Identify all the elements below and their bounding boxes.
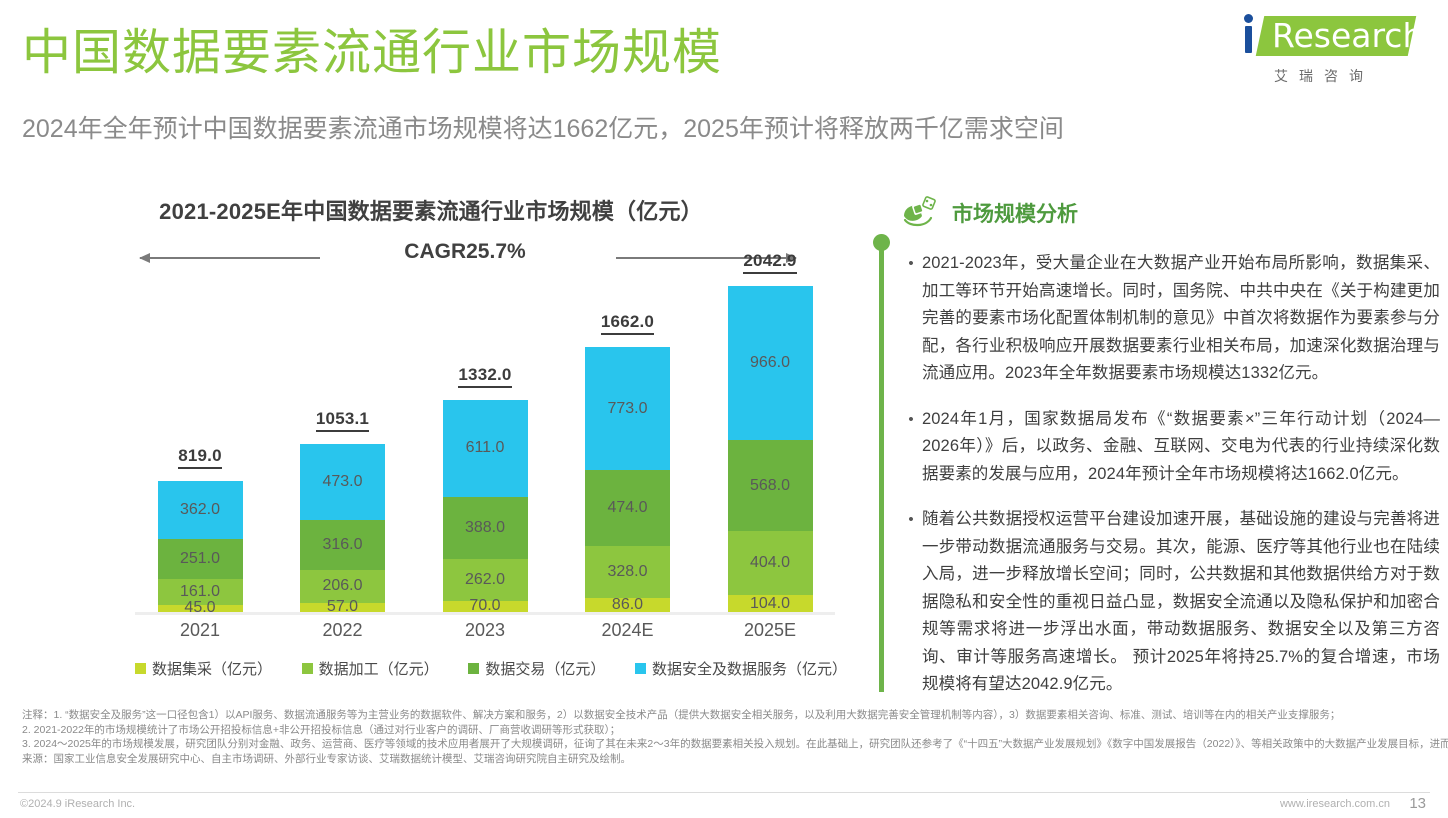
bar-total-label: 819.0 <box>178 446 222 469</box>
legend-label: 数据集采（亿元） <box>152 658 272 679</box>
footnote-line: 注释：1. “数据安全及服务”这一口径包含1）以API服务、数据流通服务等为主营… <box>22 708 1426 723</box>
footnote-line: 3. 2024～2025年的市场规模发展，研究团队分别对金融、政务、运营商、医疗… <box>22 737 1426 752</box>
page-title: 中国数据要素流通行业市场规模 <box>22 22 722 84</box>
legend-swatch-icon <box>635 663 646 674</box>
bar-column: 1662.0773.0474.0328.086.0 <box>563 312 693 612</box>
legend-label: 数据加工（亿元） <box>319 658 439 679</box>
analysis-bullet: •随着公共数据授权运营平台建设加速开展，基础设施的建设与完善将进一步带动数据流通… <box>900 506 1440 699</box>
bar-segment: 57.0 <box>300 603 385 612</box>
bar-segment: 362.0 <box>158 481 243 539</box>
footer-website: www.iresearch.com.cn <box>1280 798 1390 810</box>
bar-segment: 86.0 <box>585 598 670 612</box>
logo-mark: Research <box>1214 10 1414 62</box>
footnotes: 注释：1. “数据安全及服务”这一口径包含1）以API服务、数据流通服务等为主营… <box>22 708 1426 766</box>
x-axis-tick: 2024E <box>563 620 693 641</box>
legend-swatch-icon <box>468 663 479 674</box>
analysis-bullet-text: 2021-2023年，受大量企业在大数据产业开始布局所影响，数据集采、加工等环节… <box>922 250 1440 388</box>
analysis-bullet-text: 2024年1月，国家数据局发布《“数据要素×”三年行动计划（2024—2026年… <box>922 406 1440 489</box>
slide-root: Research 艾瑞咨询 中国数据要素流通行业市场规模 2024年全年预计中国… <box>0 0 1448 818</box>
bar-column: 819.0362.0251.0161.045.0 <box>135 446 265 612</box>
x-axis-tick: 2023 <box>420 620 550 641</box>
bar-segment: 568.0 <box>728 440 813 531</box>
chart-plot-area: 819.0362.0251.0161.045.01053.1473.0316.0… <box>135 280 835 615</box>
iresearch-logo: Research 艾瑞咨询 <box>1214 10 1414 90</box>
bar-stack: 362.0251.0161.045.0 <box>158 481 243 612</box>
logo-chinese-name: 艾瑞咨询 <box>1274 66 1374 86</box>
bar-segment: 611.0 <box>443 400 528 498</box>
bar-total-label: 1662.0 <box>601 312 654 335</box>
footnote-line: 2. 2021-2022年的市场规模统计了市场公开招投标信息+非公开招投标信息（… <box>22 723 1426 738</box>
analysis-title: 市场规模分析 <box>952 198 1078 228</box>
bullet-marker-icon: • <box>900 406 922 489</box>
x-axis-tick-labels: 2021202220232024E2025E <box>135 620 835 641</box>
bar-segment: 104.0 <box>728 595 813 612</box>
bar-segment: 328.0 <box>585 546 670 598</box>
page-subtitle: 2024年全年预计中国数据要素流通市场规模将达1662亿元，2025年预计将释放… <box>22 112 1064 146</box>
analysis-bullet: •2024年1月，国家数据局发布《“数据要素×”三年行动计划（2024—2026… <box>900 406 1440 489</box>
bar-stack: 773.0474.0328.086.0 <box>585 347 670 612</box>
bar-segment: 251.0 <box>158 539 243 579</box>
logo-i-stem-icon <box>1245 26 1252 53</box>
footnote-line: 来源：国家工业信息安全发展研究中心、自主市场调研、外部行业专家访谈、艾瑞数据统计… <box>22 752 1426 767</box>
panel-divider <box>879 240 884 692</box>
legend-label: 数据安全及数据服务（亿元） <box>652 658 847 679</box>
x-axis-tick: 2021 <box>135 620 265 641</box>
bar-stack: 966.0568.0404.0104.0 <box>728 286 813 612</box>
chart-title: 2021-2025E年中国数据要素流通行业市场规模（亿元） <box>0 194 862 226</box>
bar-column: 2042.9966.0568.0404.0104.0 <box>705 251 835 612</box>
bar-stack: 473.0316.0206.057.0 <box>300 444 385 612</box>
x-axis-tick: 2022 <box>278 620 408 641</box>
bar-segment: 474.0 <box>585 470 670 546</box>
chart-panel: 2021-2025E年中国数据要素流通行业市场规模（亿元） CAGR25.7% … <box>0 180 862 690</box>
legend-label: 数据交易（亿元） <box>485 658 605 679</box>
bar-segment: 966.0 <box>728 286 813 440</box>
legend-swatch-icon <box>135 663 146 674</box>
analysis-bullet-list: •2021-2023年，受大量企业在大数据产业开始布局所影响，数据集采、加工等环… <box>900 250 1440 699</box>
footer-divider <box>18 792 1430 793</box>
bar-total-label: 1053.1 <box>316 409 369 432</box>
legend-item[interactable]: 数据集采（亿元） <box>135 658 272 679</box>
panel-divider-dot-icon <box>873 234 890 251</box>
logo-i-dot-icon <box>1244 14 1253 23</box>
bar-group: 819.0362.0251.0161.045.01053.1473.0316.0… <box>135 280 835 612</box>
analysis-bullet: •2021-2023年，受大量企业在大数据产业开始布局所影响，数据集采、加工等环… <box>900 250 1440 388</box>
chart-legend: 数据集采（亿元）数据加工（亿元）数据交易（亿元）数据安全及数据服务（亿元） <box>135 658 847 679</box>
bar-total-label: 1332.0 <box>458 365 511 388</box>
bar-segment: 404.0 <box>728 531 813 595</box>
bar-column: 1332.0611.0388.0262.070.0 <box>420 365 550 612</box>
bar-segment: 473.0 <box>300 444 385 519</box>
legend-item[interactable]: 数据加工（亿元） <box>302 658 439 679</box>
x-axis-line <box>135 612 835 615</box>
footer-copyright: ©2024.9 iResearch Inc. <box>20 798 135 810</box>
bar-column: 1053.1473.0316.0206.057.0 <box>278 409 408 612</box>
logo-wordmark: Research <box>1272 18 1423 54</box>
footer-page-number: 13 <box>1409 795 1426 812</box>
bullet-marker-icon: • <box>900 506 922 699</box>
legend-item[interactable]: 数据安全及数据服务（亿元） <box>635 658 847 679</box>
legend-swatch-icon <box>302 663 313 674</box>
bar-total-label: 2042.9 <box>743 251 796 274</box>
analysis-bullet-text: 随着公共数据授权运营平台建设加速开展，基础设施的建设与完善将进一步带动数据流通服… <box>922 506 1440 699</box>
analysis-header: 市场规模分析 <box>900 192 1440 234</box>
bar-stack: 611.0388.0262.070.0 <box>443 400 528 612</box>
x-axis-tick: 2025E <box>705 620 835 641</box>
bullet-marker-icon: • <box>900 250 922 388</box>
bar-segment: 45.0 <box>158 605 243 612</box>
legend-item[interactable]: 数据交易（亿元） <box>468 658 605 679</box>
bar-segment: 388.0 <box>443 497 528 559</box>
market-analysis-icon <box>900 196 940 230</box>
bar-segment: 316.0 <box>300 520 385 570</box>
bar-segment: 70.0 <box>443 601 528 612</box>
analysis-panel: 市场规模分析 •2021-2023年，受大量企业在大数据产业开始布局所影响，数据… <box>900 192 1440 717</box>
bar-segment: 773.0 <box>585 347 670 470</box>
bar-segment: 262.0 <box>443 559 528 601</box>
